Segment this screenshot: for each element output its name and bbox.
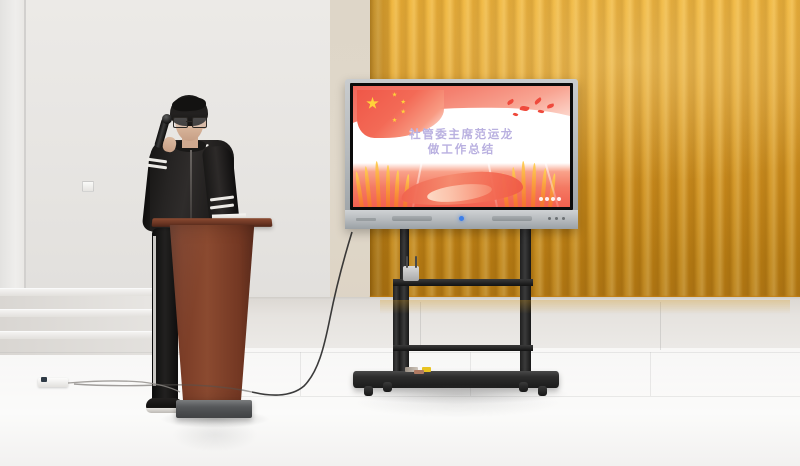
glasses-lens-left — [173, 117, 188, 128]
wifi-router — [403, 266, 419, 281]
dove-1 — [507, 99, 515, 106]
power-led-icon — [459, 216, 464, 221]
step-1-riser — [0, 296, 168, 310]
slide-title-line-2: 做工作总结 — [353, 142, 570, 157]
dove-3 — [533, 97, 542, 105]
wheat-l4 — [386, 165, 390, 207]
jacket-zipper — [190, 150, 192, 228]
smart-display-screen[interactable]: 社管委主席范运龙 做工作总结 — [353, 86, 570, 207]
panel-button-3[interactable] — [562, 217, 565, 220]
slide-corner-dots — [539, 197, 561, 201]
podium-floor-reflection — [172, 418, 258, 452]
glasses-icon — [173, 117, 205, 126]
slide-dot-2 — [545, 197, 549, 201]
slide-dot-3 — [551, 197, 555, 201]
dove-5 — [546, 103, 554, 108]
slide-dot-4 — [557, 197, 561, 201]
floor-grout-v3 — [650, 352, 651, 396]
left-wall-return — [0, 0, 26, 330]
dove-2 — [519, 105, 529, 112]
router-antenna-left — [406, 256, 408, 268]
floor-grout-v1 — [300, 352, 301, 396]
wall-seam — [24, 0, 26, 330]
glasses-lens-right — [192, 117, 207, 128]
power-strip-switch-icon[interactable] — [41, 377, 47, 382]
presentation-slide: 社管委主席范运龙 做工作总结 — [353, 86, 570, 207]
speaker-grille-left — [392, 216, 432, 221]
dove-flock-graphic — [503, 97, 559, 128]
curtain-stage-reflection — [380, 300, 790, 314]
cart-floor-reflection — [355, 388, 560, 418]
cloth-item — [414, 370, 424, 374]
trouser-side-stripe — [153, 236, 156, 386]
slide-title-block: 社管委主席范运龙 做工作总结 — [353, 127, 570, 157]
wall-outlet[interactable] — [82, 181, 94, 192]
router-antenna-right — [415, 256, 417, 268]
glasses-bridge — [186, 121, 192, 122]
photo-scene: 社管委主席范运龙 做工作总结 — [0, 0, 800, 466]
dove-6 — [512, 112, 518, 117]
slide-title-line-1: 社管委主席范运龙 — [353, 127, 570, 142]
panel-button-1[interactable] — [548, 217, 551, 220]
slide-dot-1 — [539, 197, 543, 201]
panel-button-2[interactable] — [555, 217, 558, 220]
brand-bar-icon — [356, 218, 376, 221]
speaker-grille-right — [492, 216, 532, 221]
dove-4 — [537, 109, 544, 114]
cart-lower-brace — [393, 345, 533, 351]
